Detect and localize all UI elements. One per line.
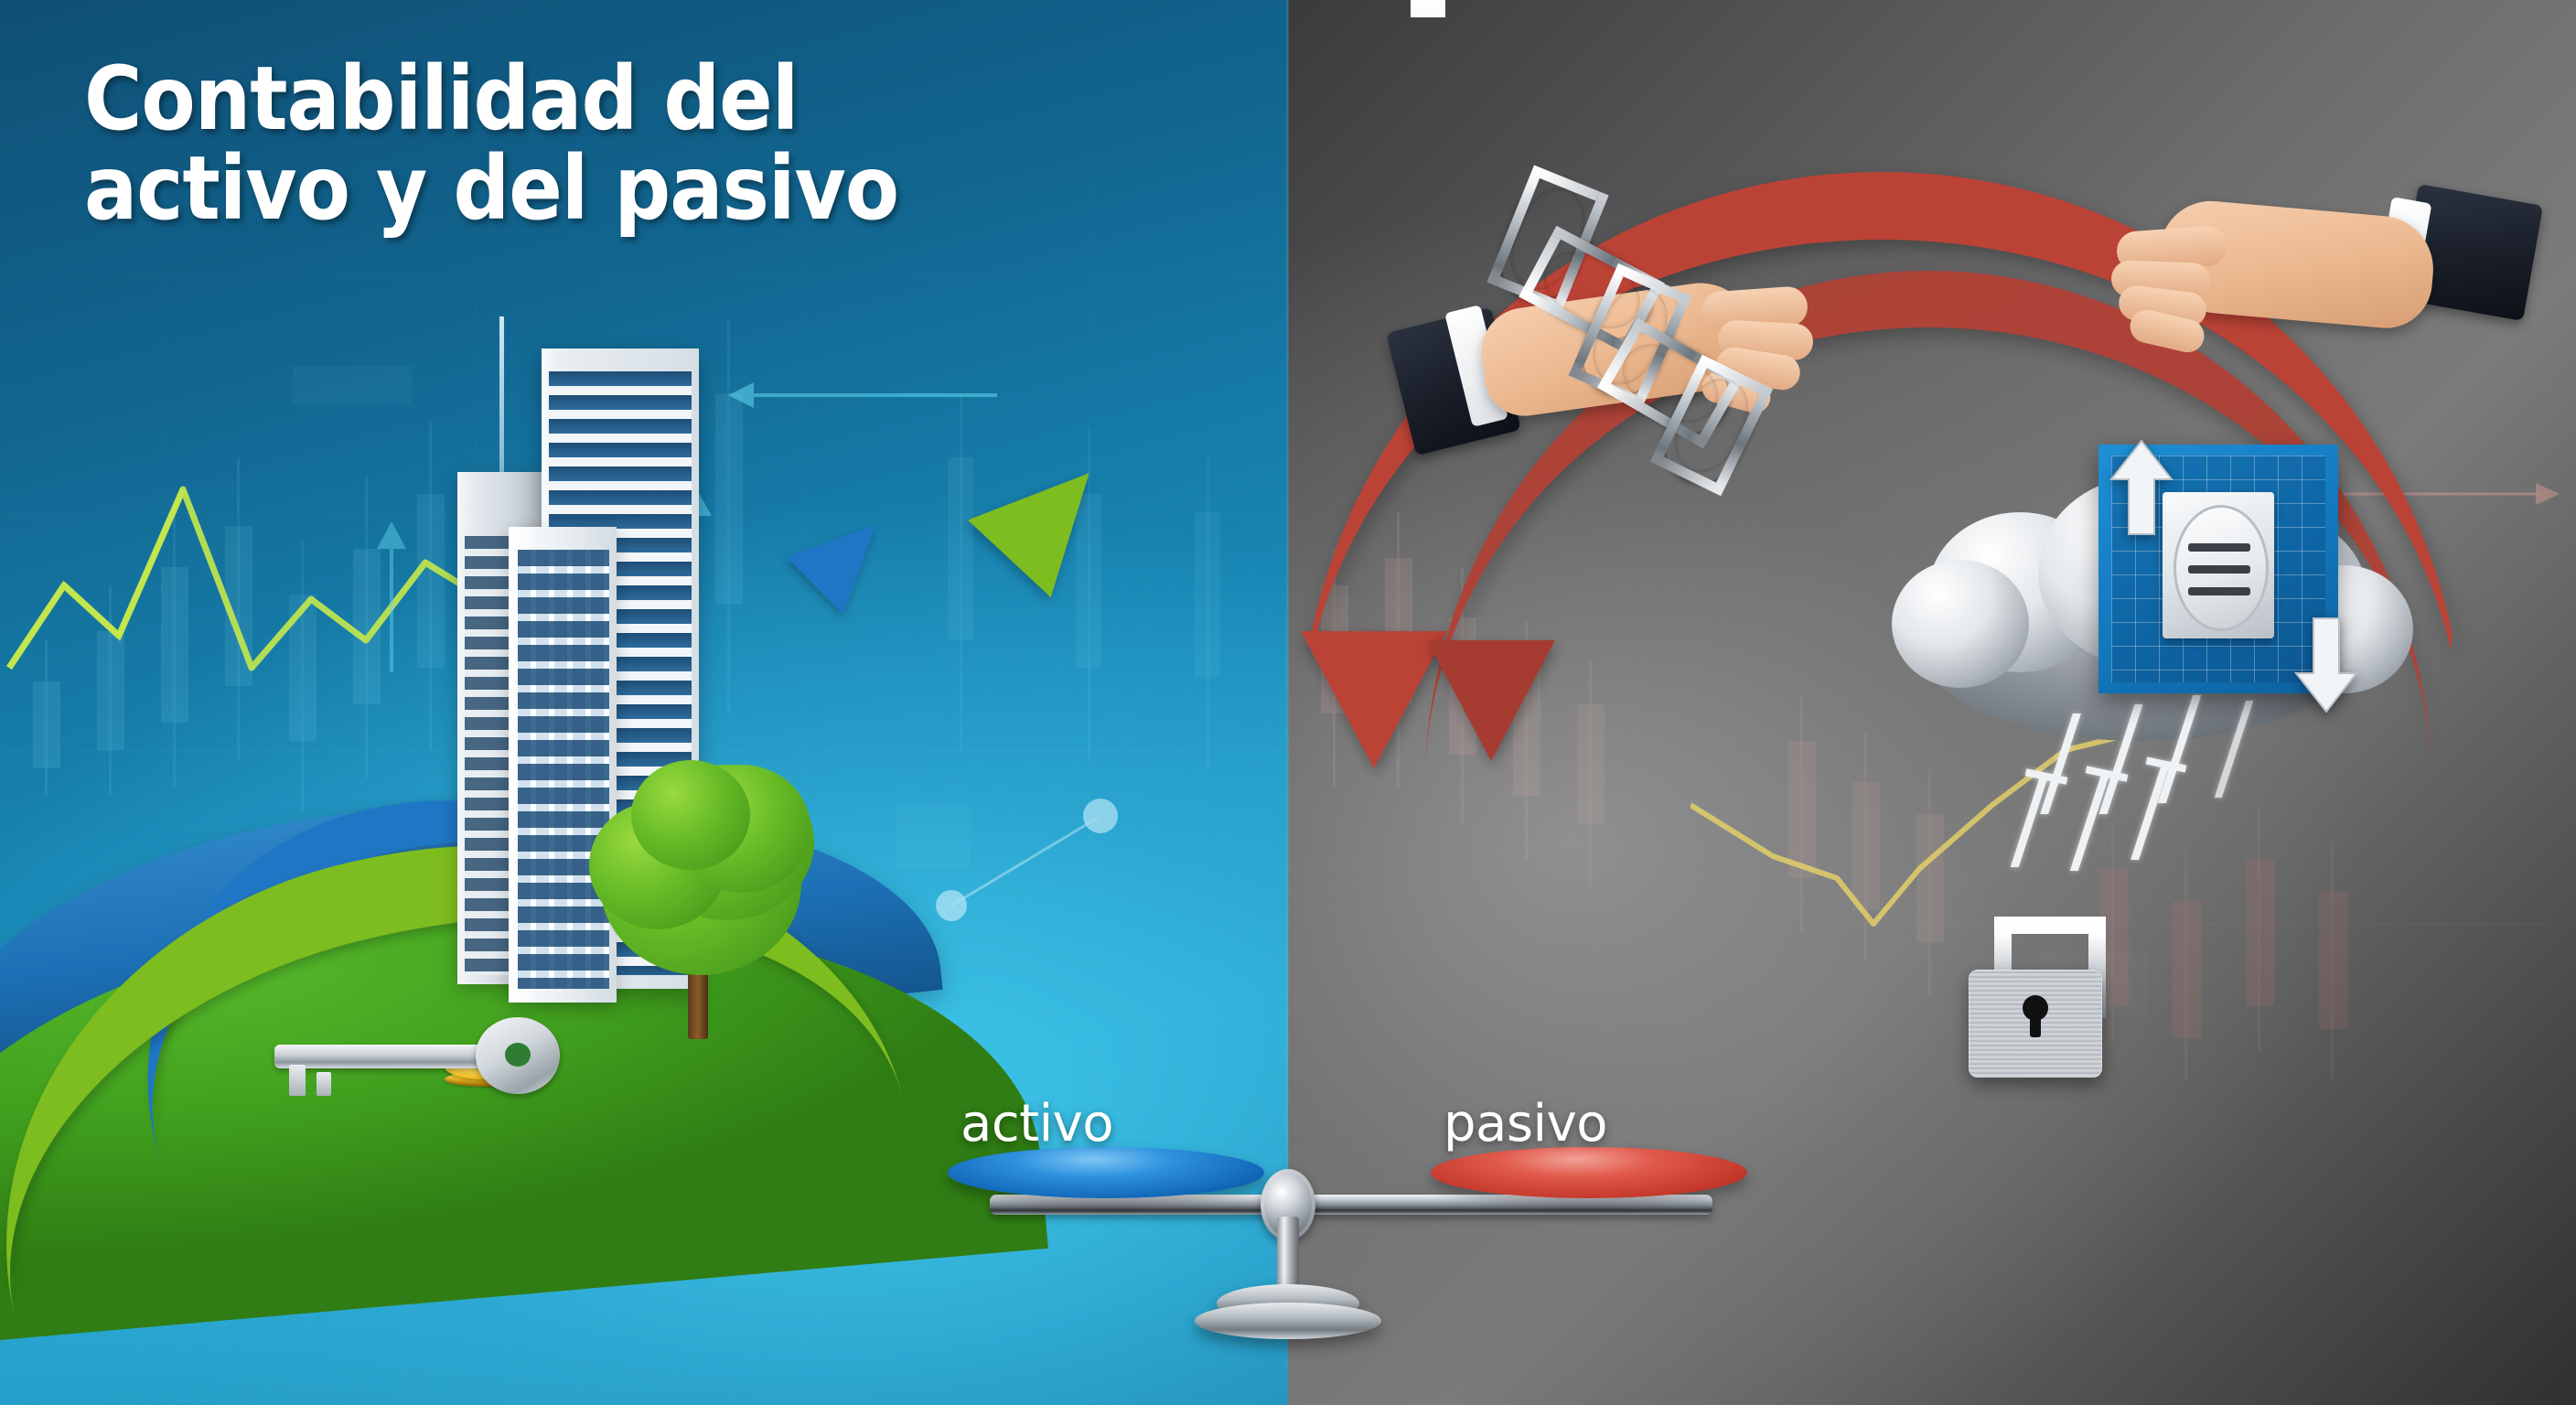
arrow-left-teal-icon: [714, 366, 1006, 421]
connector-dots-icon: [933, 787, 1134, 933]
arrow-down-white-icon: [2294, 615, 2358, 715]
scale-pan-pasivo: [1431, 1147, 1747, 1198]
page-title: Contabilidad del activo y del pasivo: [84, 55, 1182, 234]
title-line-1: Contabilidad del: [84, 55, 1182, 145]
label-pasivo: pasivo: [1444, 1094, 1607, 1153]
title-line-2: activo y del pasivo: [84, 145, 1182, 234]
scale-pan-activo: [948, 1147, 1264, 1198]
arrow-up-white-icon: [2109, 437, 2173, 538]
arrow-up-teal-icon: [348, 512, 457, 677]
banner-image: $ $ $ $: [0, 0, 2576, 1405]
label-activo: activo: [961, 1094, 1113, 1153]
